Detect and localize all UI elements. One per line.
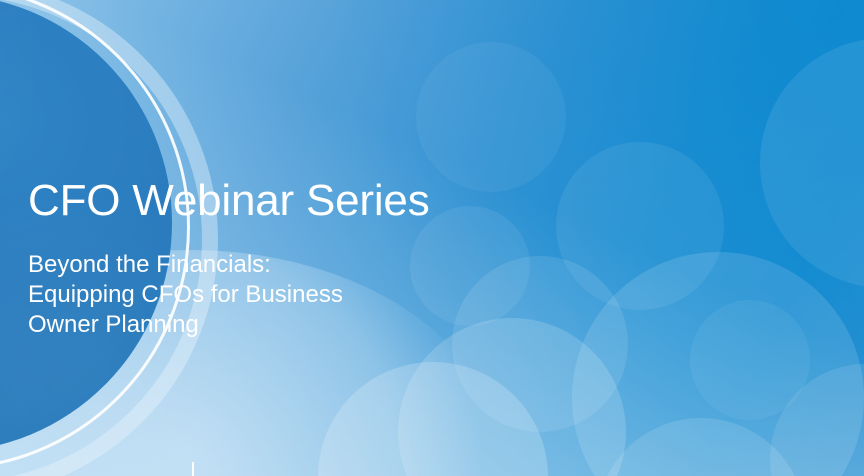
- title-text-block: CFO Webinar Series Beyond the Financials…: [28, 176, 388, 340]
- page-title: CFO Webinar Series: [28, 176, 388, 226]
- page-subtitle: Beyond the Financials: Equipping CFOs fo…: [28, 226, 388, 340]
- page-subtitle-line-1: Beyond the Financials:: [28, 250, 388, 280]
- page-subtitle-line-3: Owner Planning: [28, 310, 388, 340]
- webinar-title-slide: CFO Webinar Series Beyond the Financials…: [0, 0, 864, 476]
- page-subtitle-line-2: Equipping CFOs for Business: [28, 280, 388, 310]
- bottom-tick-mark: [192, 462, 194, 476]
